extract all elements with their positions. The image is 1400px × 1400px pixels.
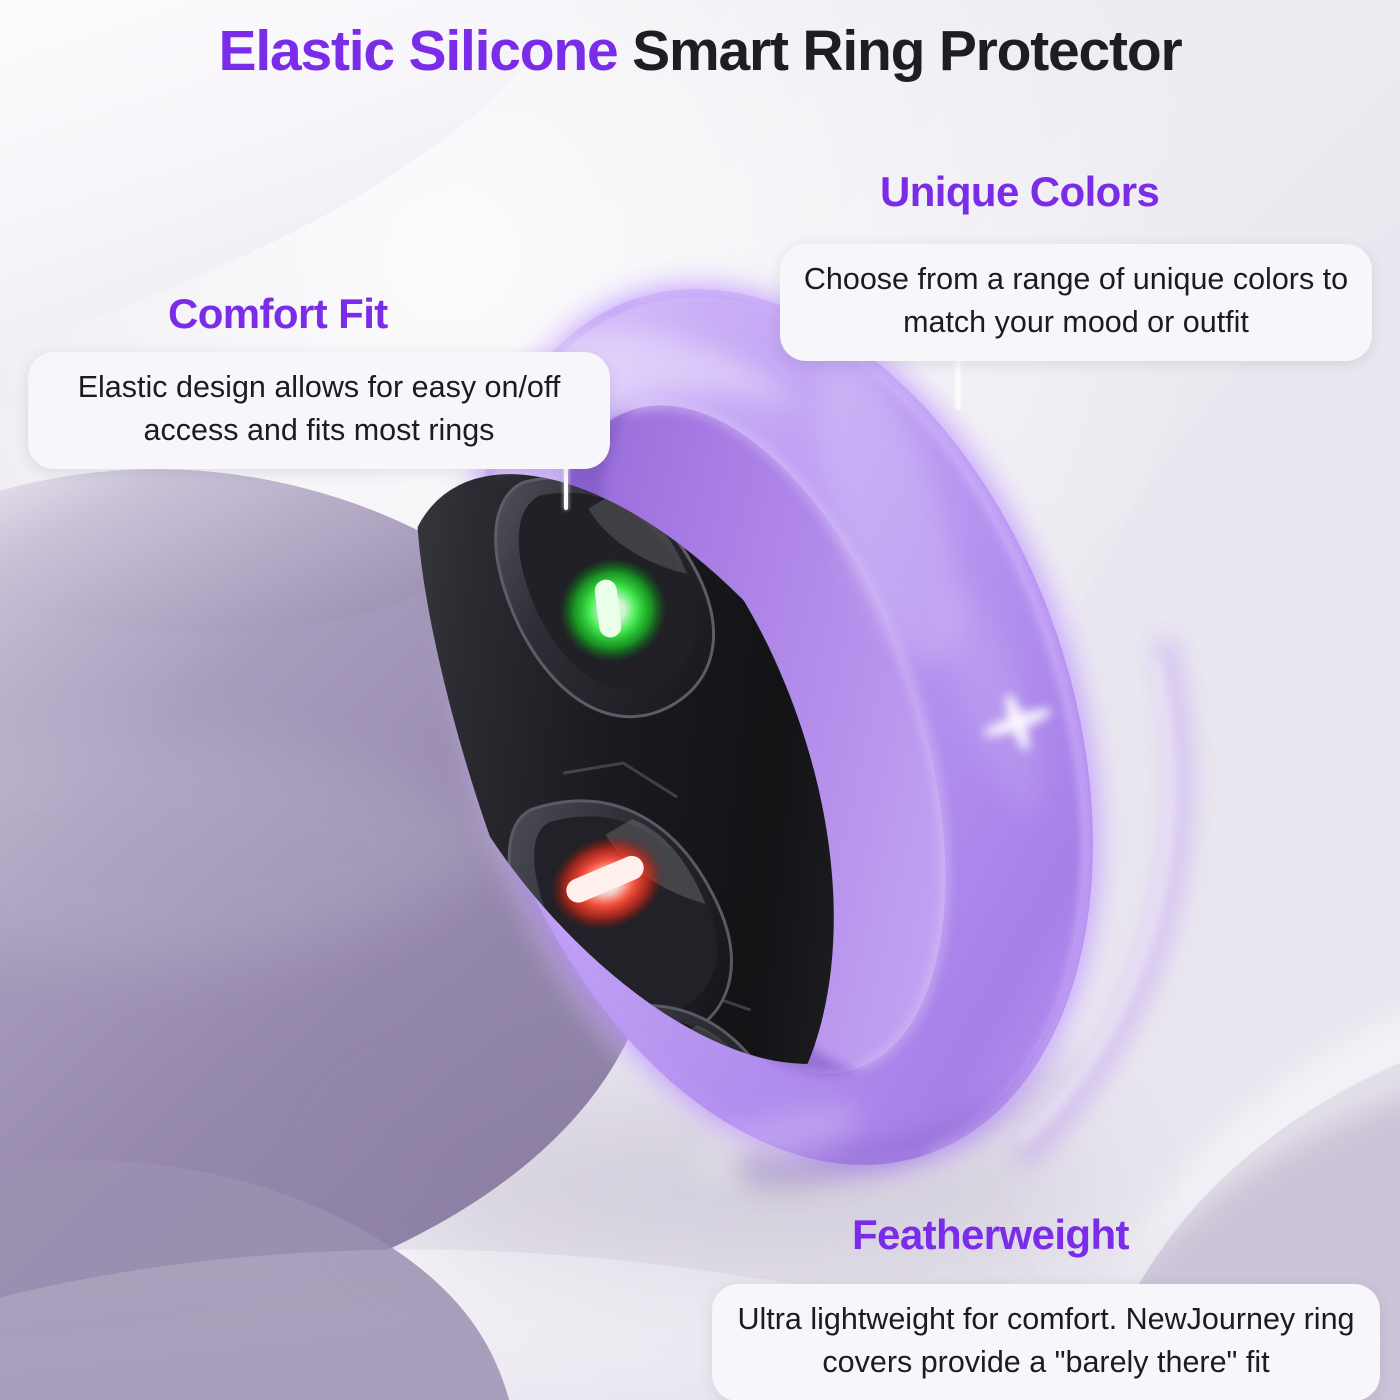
callout-body-comfort-fit: Elastic design allows for easy on/off ac… [28,352,610,469]
callout-heading-unique-colors: Unique Colors [880,168,1159,216]
callout-body-unique-colors: Choose from a range of unique colors to … [780,244,1372,361]
product-scene [0,0,1400,1400]
page-title: Elastic Silicone Smart Ring Protector [0,18,1400,84]
title-accent-text: Elastic Silicone [219,19,633,83]
callout-heading-featherweight: Featherweight [852,1211,1129,1259]
title-dark-text: Smart Ring Protector [632,19,1181,83]
callout-heading-comfort-fit: Comfort Fit [168,290,388,338]
callout-body-featherweight: Ultra lightweight for comfort. NewJourne… [712,1284,1380,1400]
